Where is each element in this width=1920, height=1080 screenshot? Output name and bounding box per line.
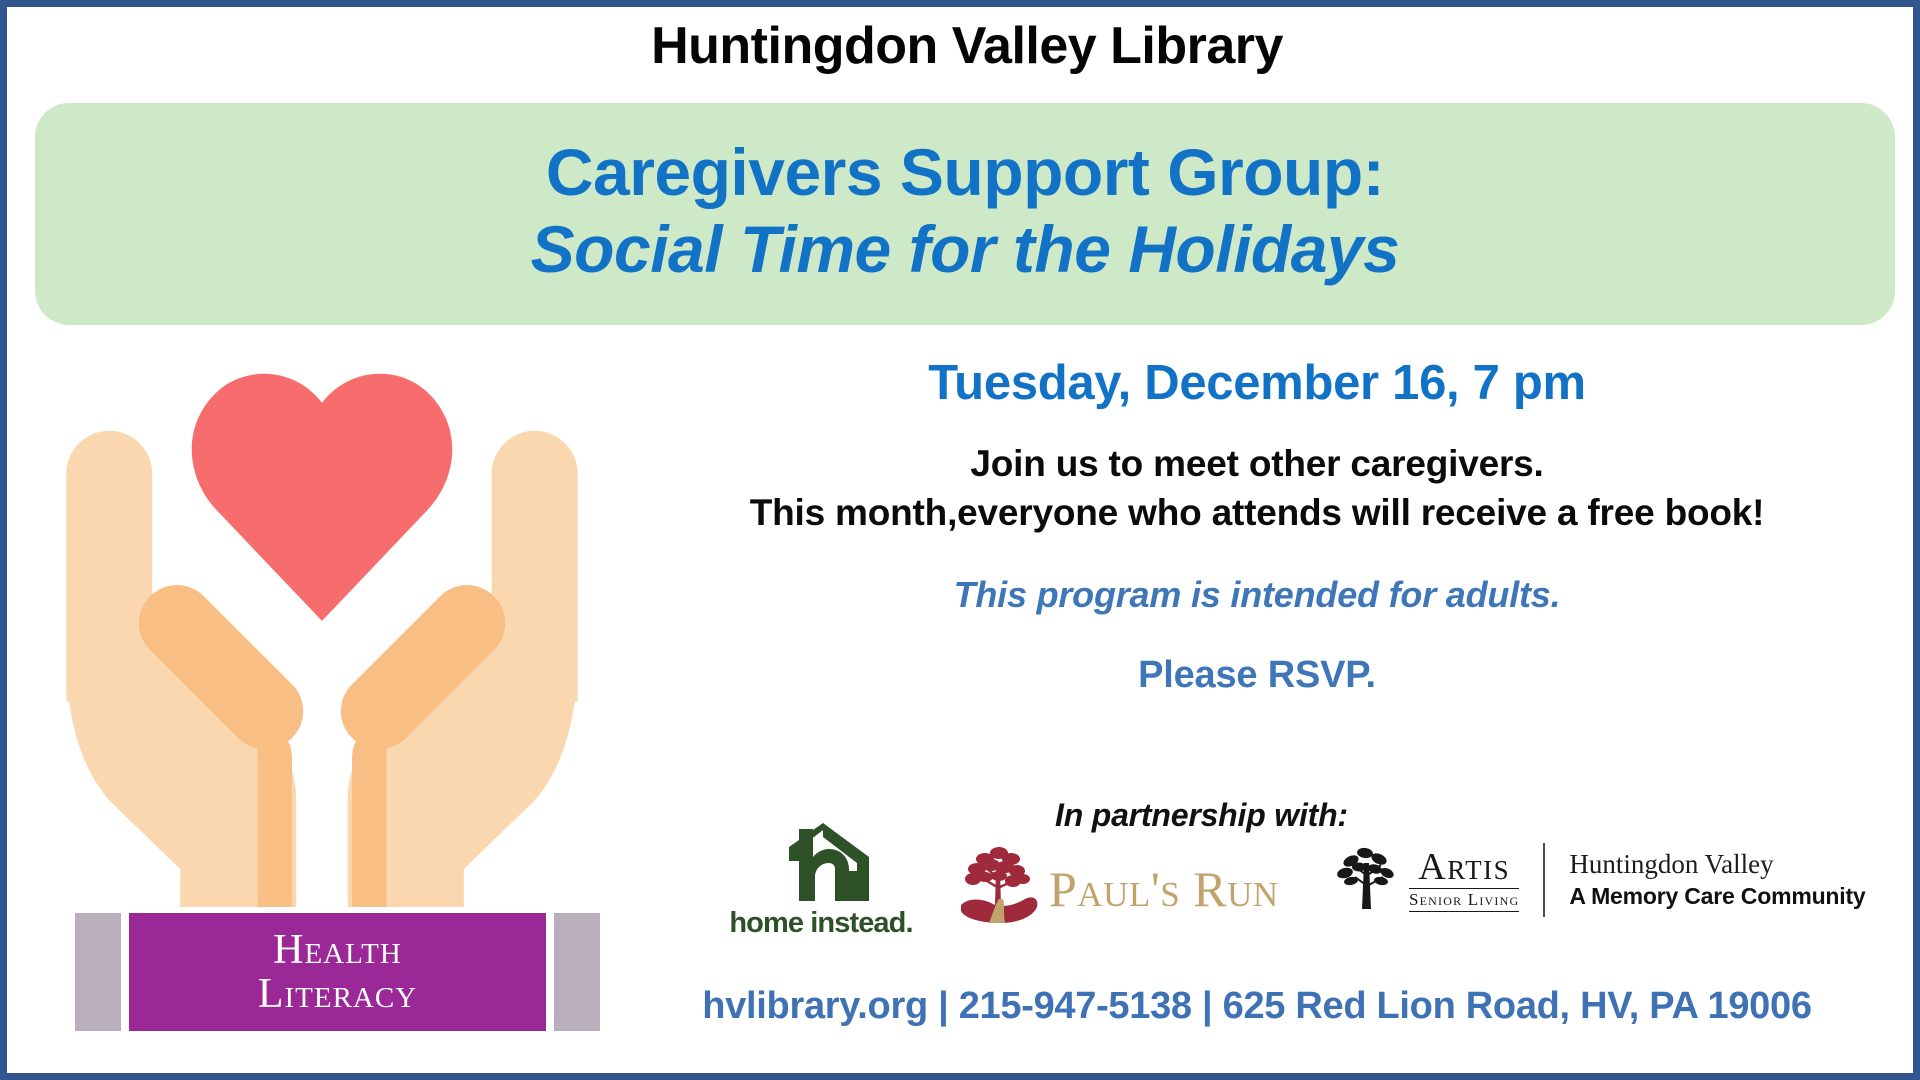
- rsvp-note: Please RSVP.: [607, 654, 1907, 697]
- artis-location: Huntingdon Valley: [1569, 849, 1865, 880]
- event-details: Tuesday, December 16, 7 pm Join us to me…: [607, 357, 1907, 697]
- badge-left-gap: [121, 913, 129, 1031]
- artis-name: Artis: [1418, 848, 1510, 886]
- home-instead-wordmark: home instead.: [711, 907, 931, 940]
- page-title: Huntingdon Valley Library: [7, 19, 1920, 74]
- hands-holding-heart-icon: [47, 337, 597, 907]
- title-banner: Caregivers Support Group: Social Time fo…: [35, 103, 1895, 325]
- logo-artis-senior-living: Artis Senior Living Huntingdon Valley A …: [1335, 841, 1866, 918]
- home-house-icon: [711, 821, 931, 903]
- event-description: Join us to meet other caregivers. This m…: [607, 439, 1907, 538]
- artis-location-block: Huntingdon Valley A Memory Care Communit…: [1569, 849, 1865, 911]
- artis-wordmark-block: Artis Senior Living: [1409, 848, 1519, 912]
- badge-word-health: Health: [273, 928, 402, 972]
- event-datetime: Tuesday, December 16, 7 pm: [607, 357, 1907, 411]
- artis-divider: [1543, 843, 1545, 917]
- badge-right-gap: [546, 913, 554, 1031]
- badge-left-bar: [75, 913, 121, 1031]
- event-title-line-1: Caregivers Support Group:: [546, 134, 1384, 211]
- partner-logos: In partnership with: home instead.: [707, 797, 1887, 957]
- badge-word-literacy: Literacy: [258, 972, 417, 1016]
- artis-tree-icon: [1335, 841, 1399, 918]
- logo-pauls-run: Paul's Run: [955, 843, 1279, 934]
- footer-contact-info: hvlibrary.org | 215-947-5138 | 625 Red L…: [607, 985, 1907, 1028]
- health-literacy-badge: Health Literacy: [75, 913, 600, 1031]
- artis-tagline: A Memory Care Community: [1569, 883, 1865, 911]
- badge-right-bar: [554, 913, 600, 1031]
- partnership-label: In partnership with:: [1055, 797, 1348, 834]
- event-title-line-2: Social Time for the Holidays: [531, 211, 1400, 288]
- audience-note: This program is intended for adults.: [607, 574, 1907, 616]
- event-flyer: Huntingdon Valley Library Caregivers Sup…: [0, 0, 1920, 1080]
- event-description-line-1: Join us to meet other caregivers.: [607, 439, 1907, 489]
- event-description-line-2: This month,everyone who attends will rec…: [607, 488, 1907, 538]
- logo-home-instead: home instead.: [711, 821, 931, 940]
- badge-center: Health Literacy: [129, 913, 546, 1031]
- illustration-column: Health Literacy: [37, 337, 597, 1067]
- artis-subtitle: Senior Living: [1409, 888, 1519, 912]
- pauls-run-tree-icon: [955, 843, 1041, 934]
- pauls-run-wordmark: Paul's Run: [1049, 860, 1279, 918]
